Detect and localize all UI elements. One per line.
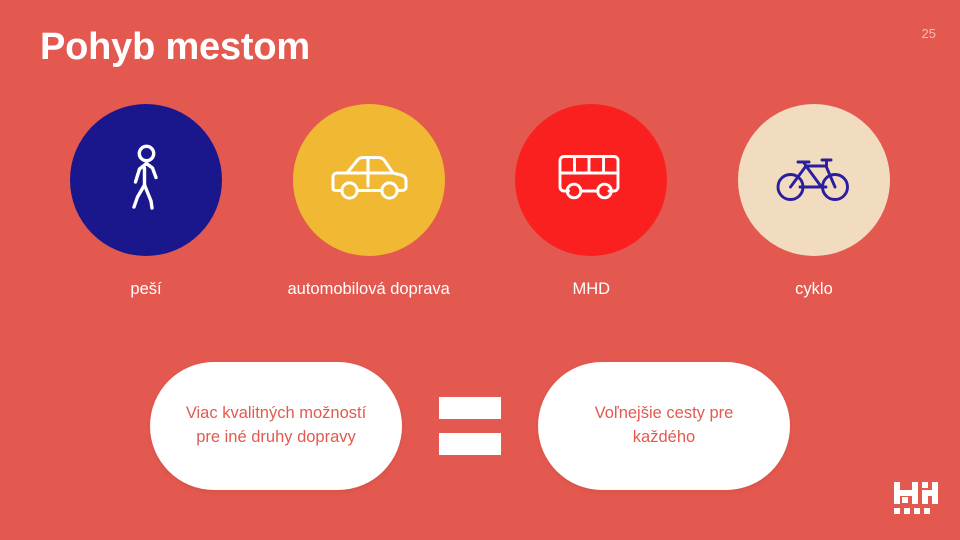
mode-label-bus: MHD <box>573 278 611 300</box>
pill-right-text: Voľnejšie cesty pre každého <box>538 402 790 450</box>
mode-circle-bus <box>515 104 667 256</box>
mode-item-car: automobilová doprava <box>263 104 475 300</box>
transport-modes-row: peší automobilová doprava <box>40 104 920 300</box>
car-icon <box>327 150 411 211</box>
mode-label-car: automobilová doprava <box>287 278 449 300</box>
mode-label-bicycle: cyklo <box>795 278 833 300</box>
page-title: Pohyb mestom <box>40 26 310 69</box>
pill-left: Viac kvalitných možností pre iné druhy d… <box>150 362 402 490</box>
mode-item-bus: MHD <box>485 104 697 300</box>
equals-sign-icon <box>439 397 501 455</box>
bicycle-icon <box>776 152 852 209</box>
mode-label-pedestrian: peší <box>130 278 161 300</box>
equals-bar-top <box>439 397 501 419</box>
mode-circle-bicycle <box>738 104 890 256</box>
mode-circle-car <box>293 104 445 256</box>
brand-logo <box>894 482 938 518</box>
page-number: 25 <box>922 26 936 41</box>
slide-canvas: Pohyb mestom 25 peší <box>0 0 960 540</box>
mode-item-bicycle: cyklo <box>708 104 920 300</box>
pill-left-text: Viac kvalitných možností pre iné druhy d… <box>150 402 402 450</box>
mode-item-pedestrian: peší <box>40 104 252 300</box>
equals-bar-bottom <box>439 433 501 455</box>
equation-row: Viac kvalitných možností pre iné druhy d… <box>150 362 790 490</box>
brand-logo-icon <box>894 482 938 518</box>
pill-right: Voľnejšie cesty pre každého <box>538 362 790 490</box>
pedestrian-icon <box>118 144 174 217</box>
bus-icon <box>555 150 627 211</box>
mode-circle-pedestrian <box>70 104 222 256</box>
